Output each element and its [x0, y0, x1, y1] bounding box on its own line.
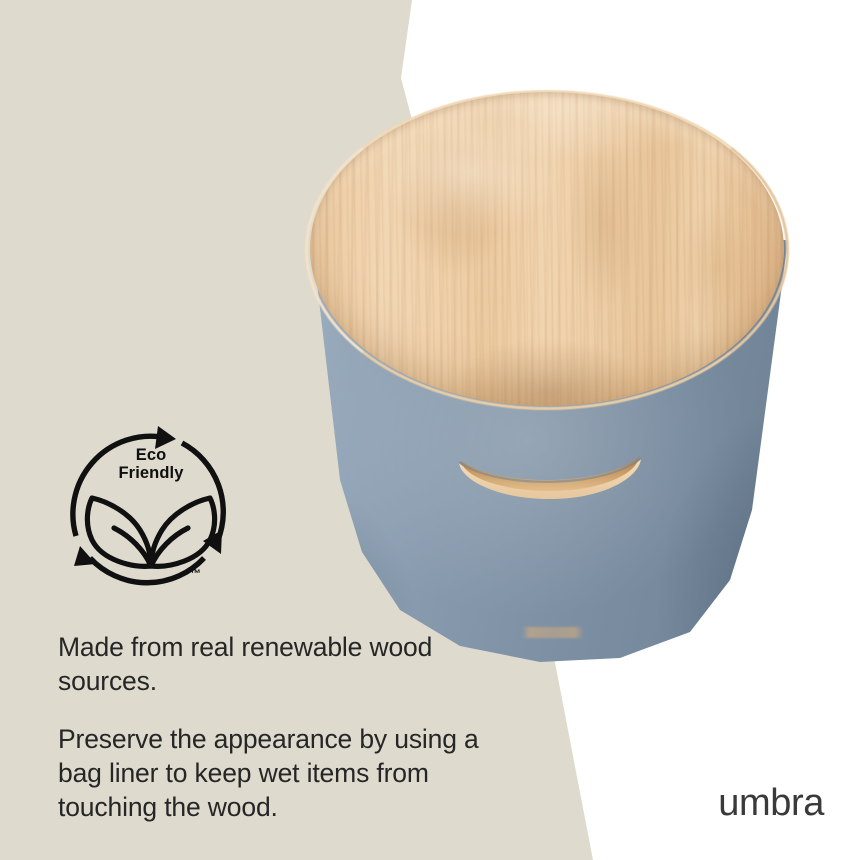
marketing-copy: Made from real renewable wood sources. P…: [58, 630, 518, 824]
copy-paragraph-1: Made from real renewable wood sources.: [58, 630, 518, 698]
bin-brand-emboss: [522, 627, 584, 638]
bin-wood-interior: [310, 92, 784, 406]
eco-friendly-badge: Eco Friendly ™: [58, 418, 244, 598]
eco-badge-text: Eco Friendly: [58, 446, 244, 482]
copy-paragraph-2: Preserve the appearance by using a bag l…: [58, 722, 518, 824]
trademark-symbol: ™: [190, 568, 201, 580]
eco-badge-line-1: Eco: [58, 446, 244, 464]
interior-lip-shadow: [310, 92, 784, 406]
umbra-logo: umbra: [718, 784, 824, 822]
product-marketing-image: Eco Friendly ™ Made from real renewable …: [0, 0, 860, 860]
eco-badge-line-2: Friendly: [58, 464, 244, 482]
bin-handle-cutout: [455, 447, 645, 503]
